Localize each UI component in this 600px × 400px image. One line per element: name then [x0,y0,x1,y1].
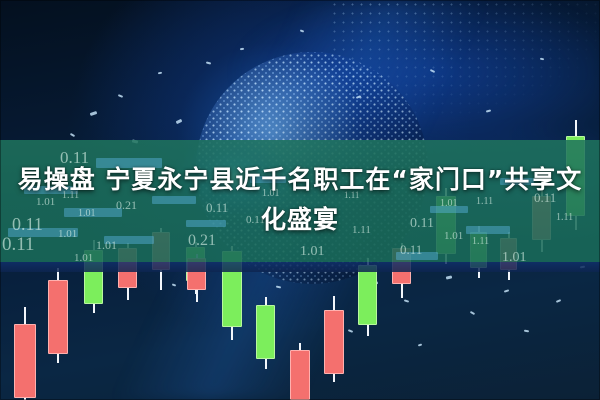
news-banner-image: 0.111.011.110.110.111.011.011.010.211.01… [0,0,600,400]
ticker-number: 1.01 [96,238,117,253]
candle-body [358,265,377,325]
headline-line-2: 化盛宴 [261,205,339,234]
candle-body [324,310,344,374]
page-title: 易操盘 宁夏永宁县近千名职工在“家门口”共享文 化盛宴 [0,160,600,240]
ticker-number: 1.01 [300,244,325,260]
candle-body [290,350,310,400]
ticker-number: 1.01 [74,252,93,262]
ticker-number: 1.01 [502,250,527,262]
ticker-number: 0.11 [400,242,422,258]
headline-line-1: 易操盘 宁夏永宁县近千名职工在“家门口”共享文 [18,165,583,194]
candle-body [256,305,275,359]
band-bottom-strip [0,262,600,272]
lower-dot-field [330,0,600,120]
candle-body [48,280,68,354]
candle-body [14,324,36,398]
